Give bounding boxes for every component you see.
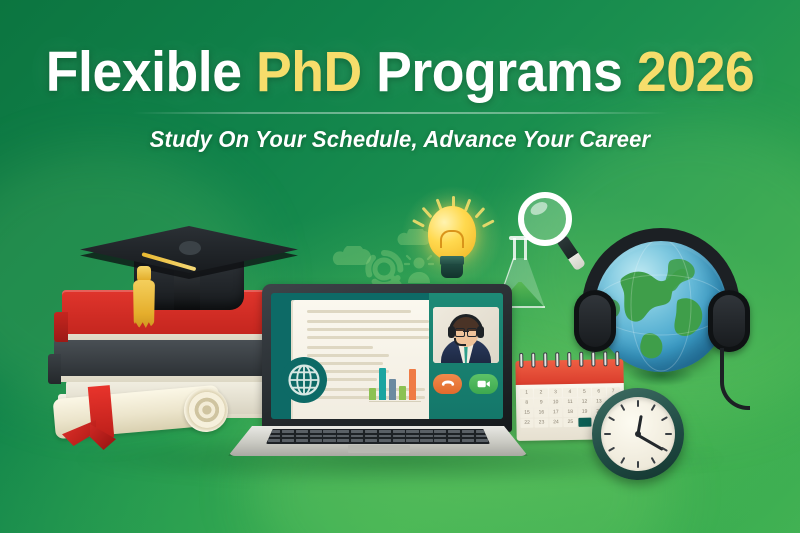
glasses-icon: [455, 328, 477, 335]
calendar-day[interactable]: 17: [549, 408, 563, 417]
video-participant-frame: [433, 307, 499, 363]
bulb-base: [441, 264, 463, 278]
screen-globe-icon: [281, 357, 327, 403]
headset-earpiece-right: [477, 326, 484, 338]
poster-header: Flexible PhD Programs 2026 Study On Your…: [0, 44, 800, 153]
bulb-filament: [440, 230, 464, 248]
clock-tick: [620, 404, 625, 411]
title-segment-year: 2026: [637, 40, 754, 104]
clock-tick: [637, 461, 639, 468]
calendar-rings: [519, 351, 619, 369]
analog-clock: [592, 388, 684, 480]
book-spine: [48, 354, 61, 384]
clock-tick: [608, 416, 615, 421]
calendar-day[interactable]: 19: [578, 408, 592, 417]
end-call-button[interactable]: [433, 374, 462, 394]
calendar-day[interactable]: 4: [563, 388, 577, 397]
headphone-cord: [720, 348, 750, 410]
clock-tick: [661, 447, 668, 452]
clock-center-pin: [635, 431, 641, 437]
video-call-panel: [429, 293, 503, 419]
lightbulb-icon: [412, 196, 492, 288]
title-divider: [133, 112, 668, 114]
keyboard-row: [266, 443, 490, 444]
bar: [379, 368, 386, 400]
laptop-keyboard[interactable]: [266, 429, 490, 444]
calendar-day[interactable]: 25: [564, 418, 578, 427]
book-spine: [54, 312, 68, 342]
camera-button[interactable]: [469, 374, 498, 394]
clock-tick: [651, 457, 656, 464]
flask-neck: [513, 238, 527, 260]
clock-tick: [665, 433, 672, 435]
calendar-day[interactable]: 3: [549, 388, 563, 397]
calendar-day[interactable]: 16: [535, 408, 549, 417]
call-controls: [433, 374, 498, 394]
poster-canvas: Flexible PhD Programs 2026 Study On Your…: [0, 0, 800, 533]
document-text-line: [307, 320, 429, 323]
tassel-knot: [137, 266, 151, 282]
calendar-day[interactable]: 5: [578, 388, 592, 397]
clock-tick: [651, 404, 656, 411]
tassel-fringe: [133, 280, 155, 328]
headphone-earcup-left: [574, 290, 616, 352]
document-text-line: [307, 346, 373, 349]
laptop-screen: [271, 293, 503, 419]
bar: [409, 369, 416, 400]
chart-axis: [369, 401, 421, 402]
clock-face: [601, 397, 675, 471]
title-segment-phd: PhD: [256, 40, 362, 104]
calendar-day[interactable]: 12: [578, 398, 592, 407]
document-text-line: [307, 354, 389, 357]
diploma-scroll: [46, 382, 236, 452]
calendar-day[interactable]: 10: [549, 398, 563, 407]
title-segment-1: Flexible: [46, 40, 256, 104]
calendar-day[interactable]: 2: [534, 388, 548, 397]
headset-earpiece-left: [448, 326, 455, 338]
headphone-earcup-right: [708, 290, 750, 352]
clock-tick: [637, 400, 639, 407]
title-segment-3: Programs: [362, 40, 637, 104]
clock-tick: [604, 433, 611, 435]
document-text-line: [307, 328, 429, 331]
video-camera-icon: [477, 378, 491, 390]
calendar-day[interactable]: 24: [549, 418, 563, 427]
bar-chart: [369, 366, 421, 400]
clock-tick: [661, 416, 668, 421]
laptop-trackpad[interactable]: [348, 445, 410, 453]
laptop-illustration: [228, 284, 528, 464]
phone-hangup-icon: [441, 378, 455, 390]
page-subtitle: Study On Your Schedule, Advance Your Car…: [16, 126, 784, 153]
calendar-day[interactable]: 11: [563, 398, 577, 407]
document-text-line: [307, 336, 429, 339]
calendar-day[interactable]: 18: [563, 408, 577, 417]
document-text-line: [307, 310, 411, 313]
calendar-day-selected[interactable]: 26: [578, 418, 592, 427]
bar: [399, 386, 406, 400]
clock-minute-hand: [637, 434, 663, 451]
cap-button: [179, 241, 201, 255]
bar: [369, 388, 376, 400]
laptop-lid: [262, 284, 512, 432]
calendar-day[interactable]: 23: [535, 418, 549, 427]
clock-tick: [608, 447, 615, 452]
clock-tick: [620, 457, 625, 464]
calendar-day[interactable]: 9: [534, 398, 548, 407]
page-title: Flexible PhD Programs 2026: [24, 44, 776, 101]
bar: [389, 379, 396, 400]
